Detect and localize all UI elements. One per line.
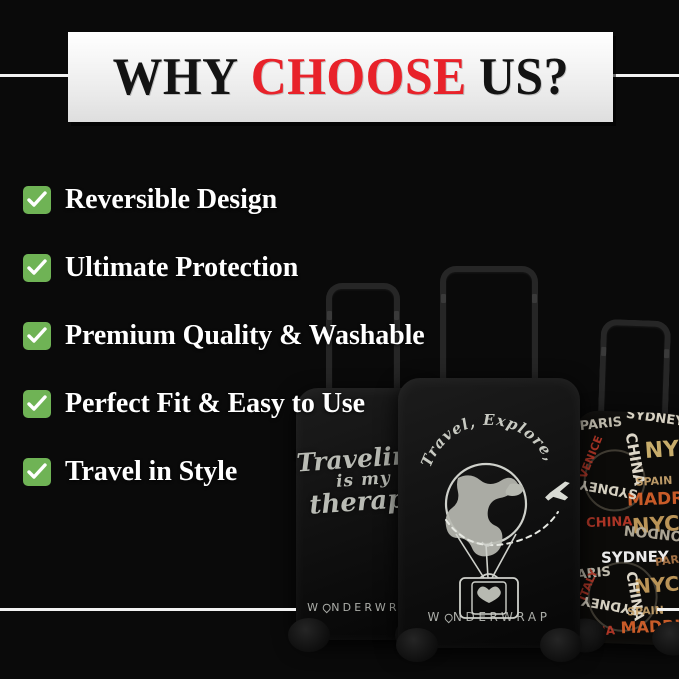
- feature-label: Ultimate Protection: [65, 254, 298, 282]
- feature-label: Premium Quality & Washable: [65, 322, 425, 350]
- luggage-handle-right: [598, 319, 671, 416]
- check-icon: [23, 186, 51, 214]
- footer-rule-left: [0, 608, 296, 611]
- check-icon: [23, 322, 51, 350]
- stamp-label: MADRID: [627, 488, 679, 511]
- feature-label: Reversible Design: [65, 186, 277, 214]
- luggage-wheel: [396, 628, 438, 662]
- luggage-wheel: [564, 618, 607, 653]
- stamp-label: ITALY: [576, 568, 600, 603]
- stamp-label: PARIS: [579, 415, 623, 434]
- stamp-label: NYC: [644, 436, 679, 464]
- stamp-label: LONDON: [623, 521, 679, 544]
- stamp-label: SPAIN: [627, 604, 664, 619]
- airplane-icon: [542, 480, 574, 506]
- header-rule-left: [0, 74, 70, 77]
- check-icon: [23, 254, 51, 282]
- stamp-label: SYDNEY: [579, 476, 639, 501]
- stamp-label: CHINA: [622, 431, 649, 487]
- header-rule-right: [613, 74, 679, 77]
- page-title: WHYCHOOSEUS?: [112, 51, 568, 104]
- luggage-wheel: [395, 618, 437, 652]
- stamp-label: PARIS: [568, 564, 612, 583]
- left-case-brand: WNDERWRAP: [296, 601, 431, 614]
- title-word-choose: CHOOSE: [250, 48, 466, 106]
- stamp-label: SYDNEY: [580, 592, 640, 617]
- luggage-wheel: [288, 618, 330, 652]
- location-pin-icon: [443, 612, 454, 623]
- luggage-wheel: [540, 628, 582, 662]
- feature-item-3: Perfect Fit & Easy to Use: [23, 387, 543, 421]
- check-icon: [23, 390, 51, 418]
- stamp-label: SPAIN: [635, 474, 672, 489]
- luggage-wheel: [652, 621, 679, 656]
- title-word-why: WHY: [112, 48, 238, 106]
- feature-item-4: Travel in Style: [23, 455, 543, 489]
- stamp-label: CHINA: [572, 623, 616, 640]
- location-pin-icon: [321, 602, 332, 613]
- feature-item-1: Ultimate Protection: [23, 251, 543, 285]
- stamp-label: CHINA: [586, 514, 633, 531]
- feature-item-0: Reversible Design: [23, 183, 543, 217]
- stamp-label: SYDNEY: [601, 548, 669, 567]
- stamp-label: PARIS: [654, 551, 679, 569]
- stamp-label: NYC: [631, 511, 679, 538]
- footer-rule-right: [657, 608, 679, 611]
- stamp-label: SYDNEY: [625, 410, 679, 430]
- feature-label: Perfect Fit & Easy to Use: [65, 390, 365, 418]
- stamp-label: MADRID: [620, 616, 679, 638]
- check-icon: [23, 458, 51, 486]
- feature-list: Reversible Design Ultimate Protection Pr…: [23, 183, 543, 523]
- center-case-brand: WNDERWRAP: [398, 610, 580, 624]
- header-banner: WHYCHOOSEUS?: [68, 32, 613, 122]
- feature-item-2: Premium Quality & Washable: [23, 319, 543, 353]
- stamp-label: CHINA: [622, 570, 646, 622]
- stamp-label: NYC: [633, 571, 679, 598]
- promo-graphic: WHYCHOOSEUS? Traveling is my therapy WND…: [0, 0, 679, 679]
- title-word-us: US?: [479, 48, 569, 106]
- feature-label: Travel in Style: [65, 458, 237, 486]
- stamp-label: VENICE: [576, 434, 605, 481]
